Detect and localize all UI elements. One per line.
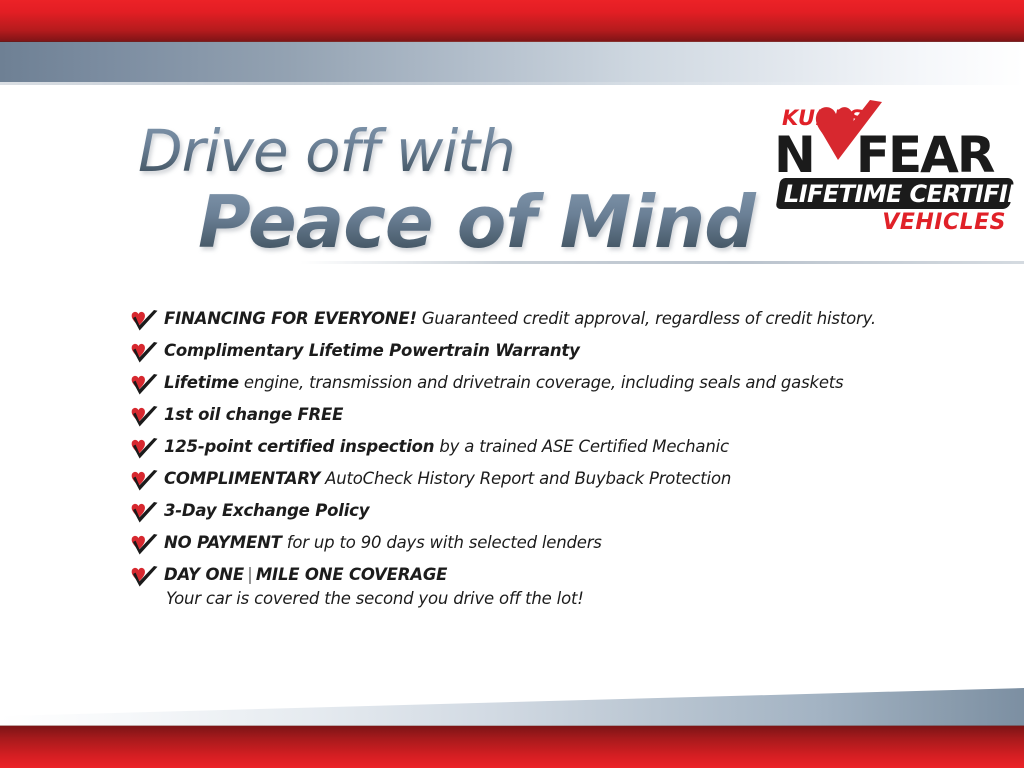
list-item-bold: 125-point certified inspection: [164, 437, 434, 456]
heart-check-icon: [131, 534, 158, 556]
heart-check-icon: [131, 438, 158, 460]
heart-check-icon: [131, 470, 158, 492]
logo-lifetime-certified-text: LIFETIME CERTIFIED: [784, 181, 1012, 207]
list-item-rest: by a trained ASE Certified Mechanic: [434, 437, 729, 456]
logo-vehicles-text: VEHICLES: [882, 212, 1006, 234]
list-item-text: DAY ONE|MILE ONE COVERAGE: [164, 564, 931, 586]
list-item-subtext: Your car is covered the second you drive…: [166, 588, 931, 610]
list-item-text: 125-point certified inspection by a trai…: [164, 436, 931, 458]
list-item-text: 1st oil change FREE: [164, 404, 931, 426]
list-item-text: Lifetime engine, transmission and drivet…: [164, 372, 931, 394]
list-item-bold: Complimentary Lifetime Powertrain Warran…: [164, 341, 580, 360]
list-item-bold: Lifetime: [164, 373, 239, 392]
list-item: 3-Day Exchange Policy: [131, 500, 931, 532]
logo-letter-n: N: [774, 126, 814, 184]
list-item-rest: AutoCheck History Report and Buyback Pro…: [320, 469, 731, 488]
list-item-text: COMPLIMENTARY AutoCheck History Report a…: [164, 468, 931, 490]
heart-check-icon: [131, 342, 158, 364]
list-item-rest: engine, transmission and drivetrain cove…: [239, 373, 844, 392]
list-item: 1st oil change FREE: [131, 404, 931, 436]
list-item-bold-2: MILE ONE COVERAGE: [256, 565, 447, 584]
headline-line-1: Drive off with: [138, 122, 758, 180]
list-item-bold: 3-Day Exchange Policy: [164, 501, 369, 520]
heart-check-icon: [131, 374, 158, 396]
list-item-bold: NO PAYMENT: [164, 533, 282, 552]
list-item-bold: FINANCING FOR EVERYONE!: [164, 309, 417, 328]
heart-check-icon: [131, 566, 158, 588]
list-item-rest: for up to 90 days with selected lenders: [282, 533, 602, 552]
top-red-band: [0, 0, 1024, 42]
benefits-list: FINANCING FOR EVERYONE! Guaranteed credi…: [131, 308, 931, 620]
heart-check-icon: [131, 502, 158, 524]
list-item: FINANCING FOR EVERYONE! Guaranteed credi…: [131, 308, 931, 340]
headline-divider: [300, 261, 1024, 264]
headline-line-2: Peace of Mind: [198, 186, 758, 258]
kunes-no-fear-logo: KUNES NFEAR LIFETIME CERTIFIED VEHICLES: [770, 108, 1014, 248]
list-item: DAY ONE|MILE ONE COVERAGE Your car is co…: [131, 564, 931, 620]
list-item: COMPLIMENTARY AutoCheck History Report a…: [131, 468, 931, 500]
list-item-text: NO PAYMENT for up to 90 days with select…: [164, 532, 931, 554]
logo-no-fear-wordmark: NFEAR: [774, 130, 993, 180]
list-item-bold: 1st oil change FREE: [164, 405, 343, 424]
promo-poster: Drive off with Peace of Mind KUNES NFEAR…: [0, 0, 1024, 768]
top-gray-band: [0, 42, 1024, 85]
list-item-bold: DAY ONE: [164, 565, 244, 584]
list-item-rest: Guaranteed credit approval, regardless o…: [417, 309, 876, 328]
list-item: Complimentary Lifetime Powertrain Warran…: [131, 340, 931, 372]
list-item-text: Complimentary Lifetime Powertrain Warran…: [164, 340, 931, 362]
list-item-text: 3-Day Exchange Policy: [164, 500, 931, 522]
list-item-separator: |: [244, 565, 256, 584]
list-item: NO PAYMENT for up to 90 days with select…: [131, 532, 931, 564]
heart-check-icon: [131, 310, 158, 332]
list-item-text: FINANCING FOR EVERYONE! Guaranteed credi…: [164, 308, 931, 330]
list-item-bold: COMPLIMENTARY: [164, 469, 320, 488]
list-item: Lifetime engine, transmission and drivet…: [131, 372, 931, 404]
heart-check-icon: [131, 406, 158, 428]
logo-word-fear: FEAR: [856, 126, 994, 184]
bottom-gray-band: [0, 688, 1024, 726]
bottom-red-band: [0, 726, 1024, 768]
list-item: 125-point certified inspection by a trai…: [131, 436, 931, 468]
headline-block: Drive off with Peace of Mind: [138, 122, 758, 258]
